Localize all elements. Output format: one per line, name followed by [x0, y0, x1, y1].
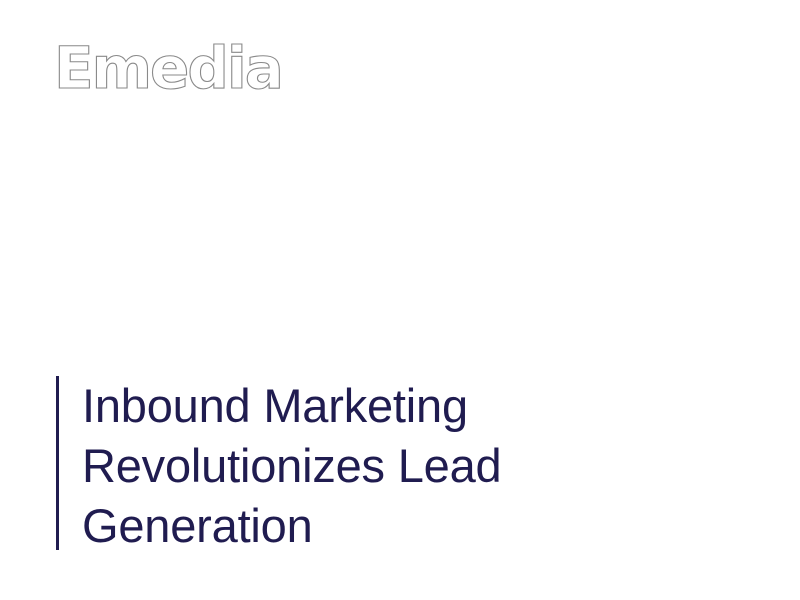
slide-title-block: Inbound Marketing Revolutionizes Lead Ge… [56, 376, 501, 556]
emedia-logo-text: Emedia [54, 34, 282, 102]
emedia-logo: Emedia [54, 36, 294, 102]
emedia-logo-icon: Emedia [54, 36, 294, 102]
title-slide: Emedia Inbound Marketing Revolutionizes … [0, 0, 800, 600]
page-title: Inbound Marketing Revolutionizes Lead Ge… [59, 376, 501, 556]
